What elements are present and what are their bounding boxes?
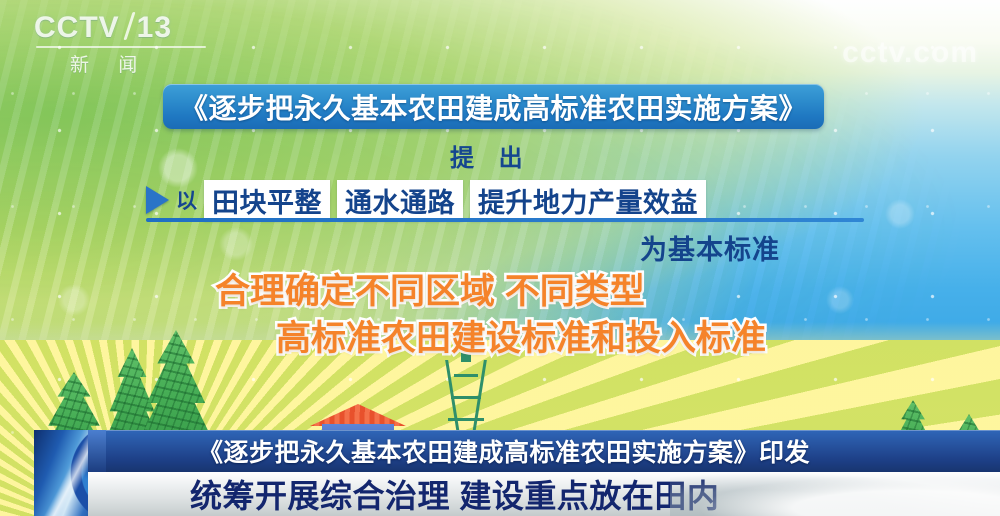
criteria-chip-label: 田块平整	[212, 181, 322, 220]
emphasis-line-1: 合理确定不同区域 不同类型	[0, 268, 1000, 315]
emphasis-line-2: 高标准农田建设标准和投入标准	[0, 315, 1000, 362]
criteria-chip-label: 提升地力产量效益	[478, 181, 698, 220]
channel-number: 13	[137, 11, 172, 44]
criteria-prefix: 以	[176, 185, 197, 215]
broadcast-screenshot: CCTV13 新 闻 cctv.com 《逐步把永久基本农田建成高标准农田实施方…	[0, 0, 1000, 516]
play-triangle-icon	[146, 186, 169, 214]
channel-logo-wordmark: CCTV13	[34, 12, 224, 43]
lower-third-line-2: 统筹开展综合治理 建设重点放在田内	[88, 472, 1000, 516]
lower-third-line-2-text: 统筹开展综合治理 建设重点放在田内	[88, 471, 719, 516]
headline-banner: 《逐步把永久基本农田建成高标准农田实施方案》	[163, 84, 824, 129]
lower-third: 《逐步把永久基本农田建成高标准农田实施方案》印发 统筹开展综合治理 建设重点放在…	[0, 428, 1000, 516]
house-roof-icon	[310, 404, 406, 426]
lower-third-line-1-text: 《逐步把永久基本农田建成高标准农田实施方案》印发	[88, 433, 810, 469]
logo-divider	[36, 46, 206, 48]
headline-connector: 提 出	[450, 138, 532, 173]
lower-third-line-1: 《逐步把永久基本农田建成高标准农田实施方案》印发	[88, 430, 1000, 472]
criteria-chip: 提升地力产量效益	[470, 180, 706, 221]
channel-name: CCTV	[34, 11, 120, 44]
criteria-underline	[146, 218, 864, 222]
criteria-chip: 通水通路	[337, 180, 463, 221]
criteria-suffix: 为基本标准	[640, 228, 780, 267]
channel-logo: CCTV13 新 闻	[34, 12, 224, 76]
emphasis-block: 合理确定不同区域 不同类型 高标准农田建设标准和投入标准	[0, 268, 1000, 363]
channel-subtitle: 新 闻	[34, 50, 224, 77]
criteria-chip-label: 通水通路	[345, 181, 455, 220]
logo-slash-icon	[123, 12, 135, 40]
criteria-row: 以 田块平整 通水通路 提升地力产量效益	[146, 179, 713, 221]
lower-third-left-cap	[88, 430, 106, 472]
headline-title: 《逐步把永久基本农田建成高标准农田实施方案》	[180, 87, 807, 127]
site-watermark: cctv.com	[842, 36, 978, 70]
criteria-chip: 田块平整	[204, 180, 330, 221]
